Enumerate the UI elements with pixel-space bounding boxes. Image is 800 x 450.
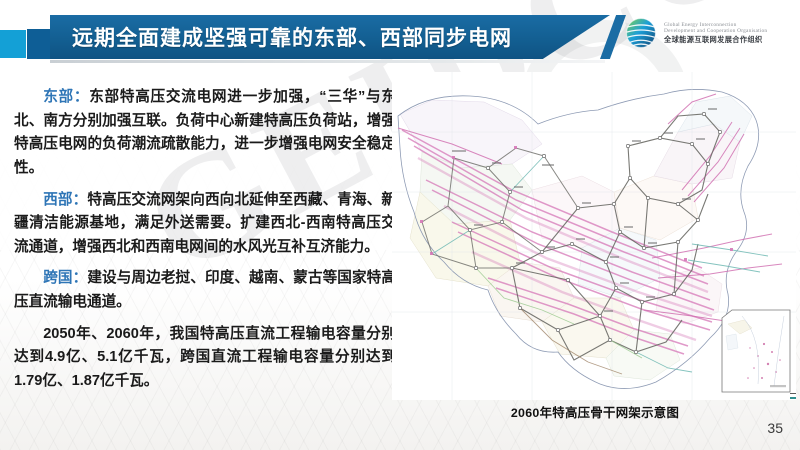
globe-icon (624, 16, 658, 50)
keyword-west: 西部： (43, 192, 87, 208)
map-legend: 图 例 1000千伏交流线 750千伏交流线 ±1100千伏直流线 ±800千伏… (790, 385, 796, 400)
paragraph-transnational: 跨国：建设与周边老挝、印度、越南、蒙古等国家特高压直流输电通道。 (14, 267, 396, 314)
title-bar: 远期全面建成坚强可靠的东部、西部同步电网 (50, 15, 610, 59)
china-grid-map: 图 例 1000千伏交流线 750千伏交流线 ±1100千伏直流线 ±800千伏… (392, 72, 796, 400)
title-diagonal-accent (600, 15, 626, 59)
map-graphic (392, 72, 796, 400)
page-number: 35 (767, 420, 783, 436)
legend-swatch-ac1000 (790, 393, 796, 395)
logo-name-cn: 全球能源互联网发展合作组织 (664, 36, 767, 44)
slide-header: 远期全面建成坚强可靠的东部、西部同步电网 (0, 0, 800, 72)
logo-name-en-line2: Development and Cooperation Organisation (664, 28, 767, 34)
paragraph-west: 西部：特高压交流网架向西向北延伸至西藏、青海、新疆清洁能源基地，满足外送需要。扩… (14, 189, 396, 260)
organization-logo: Global Energy Interconnection Developmen… (624, 16, 767, 50)
map-south-china-sea-inset (722, 310, 790, 392)
page-title: 远期全面建成坚强可靠的东部、西部同步电网 (72, 22, 512, 52)
keyword-transnational: 跨国： (43, 270, 87, 286)
map-caption: 2060年特高压骨干网架示意图 (430, 403, 760, 421)
keyword-east: 东部： (43, 89, 89, 105)
title-underline (50, 60, 605, 63)
body-text-column: 东部：东部特高压交流电网进一步加强，“三华”与东北、南方分别加强互联。负荷中心新… (14, 86, 396, 402)
paragraph-capacity-text: 2050年、2060年，我国特高压直流工程输电容量分别达到4.9亿、5.1亿千瓦… (14, 326, 396, 389)
logo-text-block: Global Energy Interconnection Developmen… (664, 22, 767, 45)
legend-swatch-ac750 (790, 397, 796, 399)
paragraph-capacity: 2050年、2060年，我国特高压直流工程输电容量分别达到4.9亿、5.1亿千瓦… (14, 323, 396, 394)
slide-root: GEIDCO 远期全面建成坚强可靠的东部、西部同步电网 (0, 0, 800, 450)
header-accent-square-light (0, 30, 26, 58)
legend-title: 图 例 (790, 385, 796, 390)
paragraph-east: 东部：东部特高压交流电网进一步加强，“三华”与东北、南方分别加强互联。负荷中心新… (14, 86, 396, 181)
